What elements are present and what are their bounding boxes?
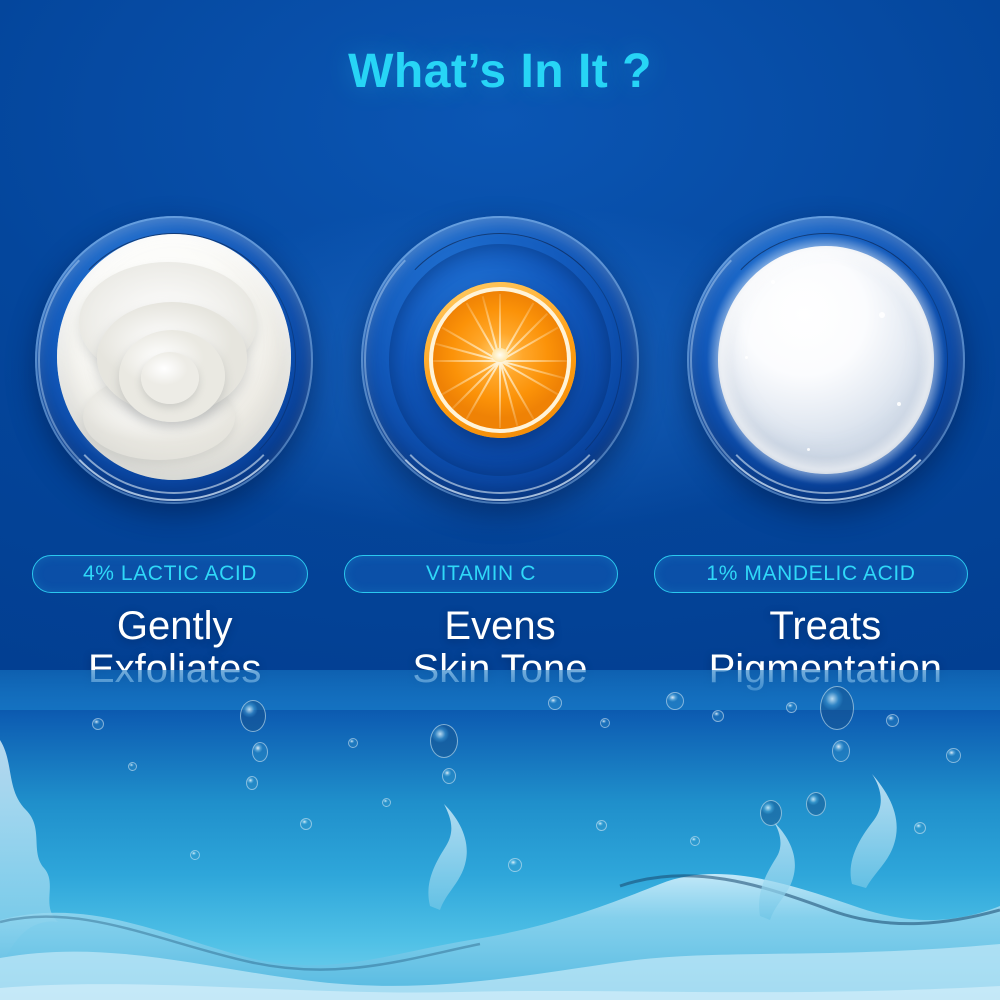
page-title: What’s In It ? bbox=[0, 44, 1000, 99]
water-droplet bbox=[806, 792, 826, 816]
cream-swirl bbox=[141, 352, 199, 404]
dish-cream-wrapper bbox=[26, 205, 322, 515]
water-splash-image bbox=[0, 670, 1000, 1000]
powder-grain-edge bbox=[707, 235, 945, 485]
water-droplet bbox=[382, 798, 391, 807]
water-droplet bbox=[128, 762, 137, 771]
water-droplet bbox=[832, 740, 850, 762]
water-droplet bbox=[442, 768, 456, 784]
water-droplet bbox=[508, 858, 522, 872]
water-droplet bbox=[348, 738, 358, 748]
orange-slice-icon bbox=[424, 282, 576, 438]
water-droplet bbox=[252, 742, 268, 762]
water-droplet bbox=[596, 820, 607, 831]
water-droplet bbox=[820, 686, 854, 730]
benefit-line-1: Gently bbox=[117, 604, 233, 648]
cream-fill bbox=[57, 234, 291, 480]
pill-lactic-acid[interactable]: 4% LACTIC ACID bbox=[32, 555, 308, 593]
water-droplet bbox=[690, 836, 700, 846]
ingredient-pill-row: 4% LACTIC ACID VITAMIN C 1% MANDELIC ACI… bbox=[0, 555, 1000, 593]
water-droplet bbox=[240, 700, 266, 732]
glass-dish-icon-2 bbox=[361, 216, 639, 504]
water-droplet bbox=[92, 718, 104, 730]
orange-core bbox=[492, 348, 508, 362]
water-droplet bbox=[430, 724, 458, 758]
dish-powder-wrapper bbox=[678, 205, 974, 515]
poster-stage: What’s In It ? bbox=[0, 0, 1000, 1000]
benefit-line-1: Treats bbox=[769, 604, 881, 648]
water-droplet bbox=[600, 718, 610, 728]
ingredient-dish-row bbox=[0, 205, 1000, 515]
water-droplet bbox=[886, 714, 899, 727]
water-droplet bbox=[946, 748, 961, 763]
pill-mandelic-acid[interactable]: 1% MANDELIC ACID bbox=[654, 555, 968, 593]
water-droplet bbox=[190, 850, 200, 860]
water-droplet bbox=[760, 800, 782, 826]
water-droplet bbox=[786, 702, 797, 713]
pill-vitamin-c[interactable]: VITAMIN C bbox=[344, 555, 618, 593]
water-droplet bbox=[246, 776, 258, 790]
dish-orange-wrapper bbox=[352, 205, 648, 515]
glass-dish-icon-1 bbox=[35, 216, 313, 504]
benefit-line-1: Evens bbox=[444, 604, 555, 648]
water-droplet bbox=[914, 822, 926, 834]
water-droplet bbox=[666, 692, 684, 710]
water-droplet bbox=[548, 696, 562, 710]
water-droplet bbox=[712, 710, 724, 722]
water-droplet bbox=[300, 818, 312, 830]
glass-dish-icon-3 bbox=[687, 216, 965, 504]
